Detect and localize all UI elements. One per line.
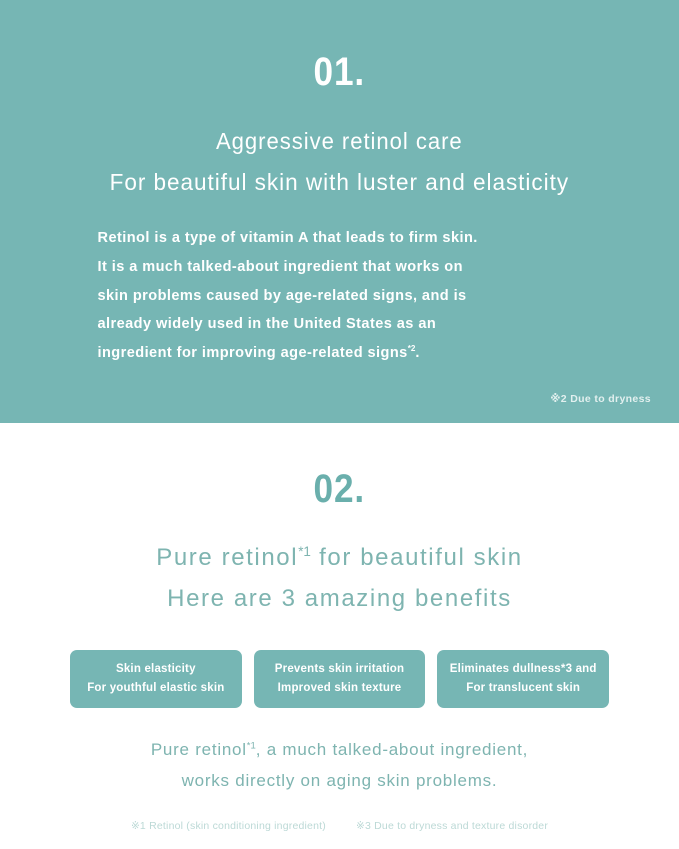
section-one-body: Retinol is a type of vitamin A that lead… xyxy=(97,224,582,368)
benefit-box-line1: Eliminates dullness*3 and xyxy=(450,660,597,679)
section-one-headline-line2: For beautiful skin with luster and elast… xyxy=(110,162,569,202)
section-one-footnote: ※2 Due to dryness xyxy=(550,393,651,405)
benefit-box-line2: For translucent skin xyxy=(466,679,580,698)
benefits-row: Skin elasticity For youthful elastic ski… xyxy=(70,650,609,708)
footnote-three: ※3 Due to dryness and texture disorder xyxy=(356,820,548,832)
section-two-headline-line1-a: Pure retinol xyxy=(156,544,298,571)
section-one: 01. Aggressive retinol care For beautifu… xyxy=(0,0,679,423)
section-two-closing-line2: works directly on aging skin problems. xyxy=(151,765,528,796)
section-one-headline-line1: Aggressive retinol care xyxy=(110,122,569,162)
section-two-headline-line2: Here are 3 amazing benefits xyxy=(156,578,522,619)
benefit-box-line1: Skin elasticity xyxy=(116,660,196,679)
benefit-box-line2: For youthful elastic skin xyxy=(87,679,224,698)
section-one-body-line4: already widely used in the United States… xyxy=(97,310,582,339)
section-two-headline: Pure retinol*1 for beautiful skin Here a… xyxy=(156,537,522,620)
benefit-box-elasticity[interactable]: Skin elasticity For youthful elastic ski… xyxy=(70,650,242,708)
section-two-closing-line1-b: , a much talked-about ingredient, xyxy=(256,740,528,759)
footnote-one: ※1 Retinol (skin conditioning ingredient… xyxy=(131,820,326,832)
section-two-closing-line1-a: Pure retinol xyxy=(151,740,247,759)
section-one-body-line1: Retinol is a type of vitamin A that lead… xyxy=(97,224,582,253)
section-one-body-line5-tail: . xyxy=(415,344,419,361)
benefit-box-line2: Improved skin texture xyxy=(278,679,402,698)
benefit-box-irritation[interactable]: Prevents skin irritation Improved skin t… xyxy=(254,650,426,708)
section-two-closing: Pure retinol*1, a much talked-about ingr… xyxy=(151,734,528,797)
section-two-headline-line1-b: for beautiful skin xyxy=(311,544,523,571)
section-two-closing-line1: Pure retinol*1, a much talked-about ingr… xyxy=(151,734,528,765)
promo-page: 01. Aggressive retinol care For beautifu… xyxy=(0,0,679,849)
section-one-number: 01. xyxy=(314,52,366,92)
section-two-number: 02. xyxy=(314,469,366,509)
section-one-headline: Aggressive retinol care For beautiful sk… xyxy=(110,122,569,202)
section-two-footnotes: ※1 Retinol (skin conditioning ingredient… xyxy=(131,820,548,832)
footnote-marker-2: *2 xyxy=(407,343,415,353)
section-two-headline-line1: Pure retinol*1 for beautiful skin xyxy=(156,537,522,578)
section-one-body-line5: ingredient for improving age-related sig… xyxy=(97,339,582,368)
benefit-box-dullness[interactable]: Eliminates dullness*3 and For translucen… xyxy=(437,650,609,708)
section-one-body-line3: skin problems caused by age-related sign… xyxy=(97,282,582,311)
footnote-marker-1-closing: *1 xyxy=(247,740,256,751)
section-one-body-line5-text: ingredient for improving age-related sig… xyxy=(97,344,407,361)
section-one-body-line2: It is a much talked-about ingredient tha… xyxy=(97,253,582,282)
benefit-box-line1: Prevents skin irritation xyxy=(275,660,404,679)
section-two: 02. Pure retinol*1 for beautiful skin He… xyxy=(0,423,679,849)
footnote-marker-1-headline: *1 xyxy=(298,544,311,559)
